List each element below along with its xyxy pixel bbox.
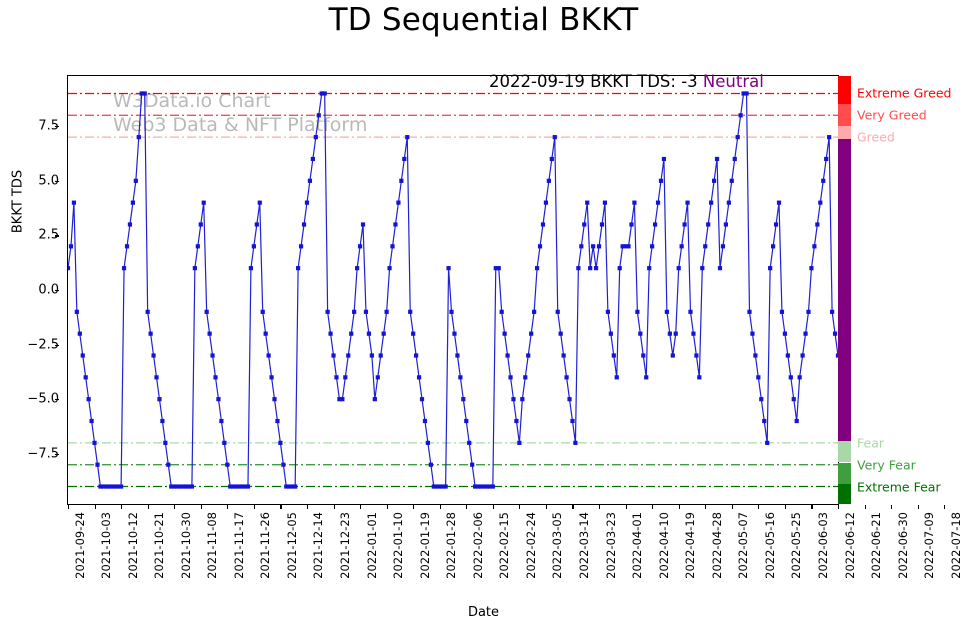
x-tick-label: 2022-01-01 — [365, 512, 379, 579]
tds-point — [210, 353, 214, 357]
x-tick-mark — [758, 505, 759, 509]
tds-point — [446, 266, 450, 270]
tds-point — [122, 266, 126, 270]
tds-point — [709, 201, 713, 205]
x-tick-label: 2021-12-14 — [311, 512, 325, 579]
y-axis-ticks: −7.5−5.0−2.50.02.55.07.5 — [0, 75, 59, 505]
tds-point — [154, 375, 158, 379]
tds-point — [656, 201, 660, 205]
tds-point — [703, 244, 707, 248]
tds-point — [653, 222, 657, 226]
tds-point — [795, 419, 799, 423]
zone-label-fear: Fear — [857, 435, 884, 450]
x-tick-mark — [95, 505, 96, 509]
annotation-classification: Neutral — [703, 72, 764, 91]
x-tick-mark — [732, 505, 733, 509]
tds-point — [72, 201, 76, 205]
tds-point — [328, 332, 332, 336]
tds-point — [81, 353, 85, 357]
y-tick-mark — [55, 290, 59, 291]
x-axis-label: Date — [0, 605, 967, 620]
tds-point — [343, 375, 347, 379]
tds-point — [258, 201, 262, 205]
page-title: TD Sequential BKKT — [0, 2, 967, 38]
annotation-text: 2022-09-19 BKKT TDS: -3 — [489, 72, 698, 91]
tds-point — [550, 157, 554, 161]
tds-point — [190, 484, 194, 488]
tds-point — [358, 244, 362, 248]
tds-point — [727, 201, 731, 205]
x-tick-mark — [413, 505, 414, 509]
y-tick-mark — [55, 399, 59, 400]
x-tick-mark — [652, 505, 653, 509]
tds-point — [715, 157, 719, 161]
tds-point — [272, 397, 276, 401]
tds-point — [160, 419, 164, 423]
tds-point — [75, 310, 79, 314]
tds-point — [208, 332, 212, 336]
x-tick-mark — [918, 505, 919, 509]
colorbar-segment-extreme-fear — [838, 484, 851, 504]
y-axis-label: BKKT TDS — [11, 132, 26, 272]
tds-point — [786, 353, 790, 357]
x-tick-label: 2021-11-26 — [258, 512, 272, 579]
x-tick-mark — [838, 505, 839, 509]
tds-point — [547, 179, 551, 183]
tds-point — [151, 353, 155, 357]
tds-point — [641, 353, 645, 357]
tds-point — [370, 353, 374, 357]
tds-point — [556, 310, 560, 314]
x-tick-mark — [572, 505, 573, 509]
tds-point — [809, 266, 813, 270]
tds-point — [567, 397, 571, 401]
tds-point — [789, 375, 793, 379]
tds-point — [399, 179, 403, 183]
x-tick-label: 2022-02-15 — [497, 512, 511, 579]
tds-line — [68, 93, 838, 486]
x-tick-label: 2022-04-01 — [630, 512, 644, 579]
tds-point — [532, 310, 536, 314]
tds-point — [84, 375, 88, 379]
tds-point — [311, 157, 315, 161]
tds-point — [541, 222, 545, 226]
x-tick-mark — [811, 505, 812, 509]
zone-label-extreme-greed: Extreme Greed — [857, 86, 951, 101]
tds-point — [712, 179, 716, 183]
tds-point — [349, 332, 353, 336]
tds-point — [385, 310, 389, 314]
tds-point — [497, 266, 501, 270]
x-tick-mark — [360, 505, 361, 509]
x-tick-mark — [440, 505, 441, 509]
tds-point — [426, 441, 430, 445]
tds-point — [677, 266, 681, 270]
tds-point — [635, 310, 639, 314]
tds-point — [744, 91, 748, 95]
tds-point — [405, 135, 409, 139]
plot-area: W3Data.io Chart Web3 Data & NFT Platform — [67, 75, 839, 505]
tds-point — [553, 135, 557, 139]
tds-point — [470, 463, 474, 467]
tds-point — [331, 353, 335, 357]
tds-point — [417, 375, 421, 379]
tds-point — [821, 179, 825, 183]
x-tick-mark — [148, 505, 149, 509]
tds-point — [491, 484, 495, 488]
tds-point — [334, 375, 338, 379]
tds-point — [739, 113, 743, 117]
tds-point — [346, 353, 350, 357]
tds-point — [367, 332, 371, 336]
tds-point — [691, 332, 695, 336]
tds-point — [783, 332, 787, 336]
x-tick-label: 2022-04-10 — [657, 512, 671, 579]
tds-point — [818, 201, 822, 205]
x-tick-mark — [466, 505, 467, 509]
tds-point — [261, 310, 265, 314]
tds-point — [559, 332, 563, 336]
tds-point — [603, 201, 607, 205]
tds-point — [352, 310, 356, 314]
tds-point — [458, 375, 462, 379]
tds-point — [444, 484, 448, 488]
tds-point — [199, 222, 203, 226]
tds-point — [526, 353, 530, 357]
zone-label-greed: Greed — [857, 130, 895, 145]
x-tick-label: 2022-06-12 — [843, 512, 857, 579]
x-tick-mark — [519, 505, 520, 509]
tds-point — [317, 113, 321, 117]
tds-point — [615, 375, 619, 379]
x-tick-label: 2022-05-07 — [736, 512, 750, 579]
tds-point — [149, 332, 153, 336]
tds-point — [721, 244, 725, 248]
tds-point — [538, 244, 542, 248]
tds-point — [402, 157, 406, 161]
tds-point — [449, 310, 453, 314]
tds-point — [591, 244, 595, 248]
tds-point — [503, 332, 507, 336]
zone-label-extreme-fear: Extreme Fear — [857, 479, 941, 494]
tds-point — [255, 222, 259, 226]
x-tick-label: 2021-10-03 — [99, 512, 113, 579]
tds-point — [340, 397, 344, 401]
y-tick-mark — [55, 126, 59, 127]
x-tick-mark — [121, 505, 122, 509]
plot-clip — [68, 76, 838, 504]
x-tick-mark — [334, 505, 335, 509]
tds-point — [92, 441, 96, 445]
tds-point — [225, 463, 229, 467]
tds-point — [694, 353, 698, 357]
x-tick-label: 2022-05-25 — [789, 512, 803, 579]
tds-point — [792, 397, 796, 401]
tds-point — [163, 441, 167, 445]
colorbar-segment-extreme-greed — [838, 76, 851, 104]
chart-root: TD Sequential BKKT W3Data.io Chart Web3 … — [0, 0, 967, 633]
tds-point — [573, 441, 577, 445]
x-tick-mark — [68, 505, 69, 509]
tds-point — [812, 244, 816, 248]
tds-point — [137, 135, 141, 139]
tds-point — [579, 244, 583, 248]
tds-point — [87, 397, 91, 401]
tds-series — [68, 76, 838, 504]
tds-point — [379, 353, 383, 357]
tds-point — [671, 353, 675, 357]
colorbar-segment-greed — [838, 126, 851, 139]
tds-point — [806, 310, 810, 314]
tds-point — [119, 484, 123, 488]
x-tick-mark — [307, 505, 308, 509]
tds-point — [423, 419, 427, 423]
tds-point — [632, 201, 636, 205]
tds-point — [302, 222, 306, 226]
tds-point — [125, 244, 129, 248]
tds-point — [293, 484, 297, 488]
x-tick-mark — [705, 505, 706, 509]
tds-point — [281, 463, 285, 467]
tds-point — [612, 353, 616, 357]
x-tick-label: 2022-02-06 — [471, 512, 485, 579]
tds-point — [768, 266, 772, 270]
tds-point — [753, 353, 757, 357]
tds-point — [278, 441, 282, 445]
tds-point — [801, 353, 805, 357]
tds-point — [523, 375, 527, 379]
tds-point — [585, 201, 589, 205]
tds-point — [305, 201, 309, 205]
tds-point — [638, 332, 642, 336]
tds-point — [387, 266, 391, 270]
tds-point — [131, 201, 135, 205]
tds-point — [570, 419, 574, 423]
tds-point — [314, 135, 318, 139]
latest-value-annotation: 2022-09-19 BKKT TDS: -3 Neutral — [489, 72, 764, 91]
tds-point — [219, 419, 223, 423]
tds-point — [157, 397, 161, 401]
tds-point — [455, 353, 459, 357]
tds-point — [582, 222, 586, 226]
x-tick-mark — [493, 505, 494, 509]
tds-point — [771, 244, 775, 248]
tds-point — [78, 332, 82, 336]
colorbar-segment-neutral — [838, 139, 851, 440]
tds-point — [662, 157, 666, 161]
tds-point — [659, 179, 663, 183]
tds-point — [803, 332, 807, 336]
tds-point — [376, 375, 380, 379]
x-tick-label: 2022-07-18 — [949, 512, 963, 579]
y-tick-mark — [55, 181, 59, 182]
tds-point — [68, 266, 70, 270]
x-axis-ticks: 2021-09-242021-10-032021-10-122021-10-21… — [67, 512, 839, 602]
tds-point — [827, 135, 831, 139]
x-tick-label: 2021-09-24 — [73, 512, 87, 579]
tds-point — [275, 419, 279, 423]
tds-point — [780, 310, 784, 314]
tds-point — [724, 222, 728, 226]
tds-point — [674, 332, 678, 336]
x-tick-mark — [944, 505, 945, 509]
x-tick-mark — [280, 505, 281, 509]
tds-point — [665, 310, 669, 314]
tds-point — [202, 201, 206, 205]
tds-point — [609, 332, 613, 336]
tds-point — [833, 332, 837, 336]
x-tick-mark — [599, 505, 600, 509]
y-tick-mark — [55, 454, 59, 455]
x-tick-mark — [387, 505, 388, 509]
tds-point — [606, 310, 610, 314]
tds-point — [408, 310, 412, 314]
tds-point — [246, 484, 250, 488]
x-tick-mark — [201, 505, 202, 509]
tds-point — [95, 463, 99, 467]
tds-point — [464, 419, 468, 423]
colorbar-segment-fear — [838, 441, 851, 463]
tds-point — [326, 310, 330, 314]
tds-point — [69, 244, 73, 248]
tds-point — [461, 397, 465, 401]
tds-point — [562, 353, 566, 357]
tds-point — [824, 157, 828, 161]
x-tick-mark — [546, 505, 547, 509]
x-tick-mark — [865, 505, 866, 509]
tds-point — [414, 353, 418, 357]
x-tick-label: 2022-04-19 — [683, 512, 697, 579]
tds-point — [765, 441, 769, 445]
tds-point — [393, 222, 397, 226]
tds-point — [815, 222, 819, 226]
x-tick-label: 2022-02-24 — [524, 512, 538, 579]
x-tick-label: 2021-11-08 — [205, 512, 219, 579]
tds-point — [750, 332, 754, 336]
tds-point — [594, 266, 598, 270]
tds-point — [756, 375, 760, 379]
tds-point — [134, 179, 138, 183]
tds-point — [564, 375, 568, 379]
tds-point — [249, 266, 253, 270]
tds-point — [213, 375, 217, 379]
tds-point — [511, 397, 515, 401]
tds-point — [193, 266, 197, 270]
tds-point — [323, 91, 327, 95]
tds-point — [166, 463, 170, 467]
tds-point — [706, 222, 710, 226]
x-tick-label: 2022-03-14 — [577, 512, 591, 579]
zone-label-very-fear: Very Fear — [857, 457, 916, 472]
tds-point — [697, 375, 701, 379]
tds-point — [308, 179, 312, 183]
tds-point — [597, 244, 601, 248]
tds-point — [647, 266, 651, 270]
tds-point — [452, 332, 456, 336]
tds-point — [429, 463, 433, 467]
x-tick-mark — [679, 505, 680, 509]
x-tick-mark — [227, 505, 228, 509]
tds-point — [373, 397, 377, 401]
x-tick-mark — [785, 505, 786, 509]
tds-point — [682, 222, 686, 226]
tds-point — [736, 135, 740, 139]
tds-point — [143, 91, 147, 95]
x-tick-label: 2022-06-03 — [816, 512, 830, 579]
zone-label-very-greed: Very Greed — [857, 108, 927, 123]
tds-point — [680, 244, 684, 248]
x-tick-mark — [254, 505, 255, 509]
x-tick-label: 2022-06-30 — [896, 512, 910, 579]
tds-point — [222, 441, 226, 445]
tds-point — [396, 201, 400, 205]
tds-point — [718, 266, 722, 270]
tds-point — [364, 310, 368, 314]
tds-point — [252, 244, 256, 248]
x-tick-label: 2021-10-21 — [152, 512, 166, 579]
tds-point — [576, 266, 580, 270]
colorbar-segment-very-greed — [838, 104, 851, 126]
tds-point — [146, 310, 150, 314]
tds-point — [626, 244, 630, 248]
x-tick-label: 2021-10-30 — [179, 512, 193, 579]
x-tick-label: 2021-10-12 — [126, 512, 140, 579]
tds-point — [600, 222, 604, 226]
x-tick-label: 2021-12-05 — [285, 512, 299, 579]
tds-point — [747, 310, 751, 314]
tds-point — [390, 244, 394, 248]
tds-point — [759, 397, 763, 401]
tds-point — [777, 201, 781, 205]
tds-point — [629, 222, 633, 226]
tds-point — [529, 332, 533, 336]
tds-point — [588, 266, 592, 270]
x-tick-label: 2021-12-23 — [338, 512, 352, 579]
tds-point — [205, 310, 209, 314]
tds-point — [264, 332, 268, 336]
tds-point — [505, 353, 509, 357]
x-tick-label: 2022-06-21 — [869, 512, 883, 579]
tds-point — [269, 375, 273, 379]
tds-point — [733, 157, 737, 161]
tds-point — [382, 332, 386, 336]
tds-point — [500, 310, 504, 314]
tds-point — [730, 179, 734, 183]
tds-point — [128, 222, 132, 226]
tds-point — [618, 266, 622, 270]
x-tick-label: 2021-11-17 — [232, 512, 246, 579]
x-tick-label: 2022-01-28 — [444, 512, 458, 579]
x-tick-label: 2022-04-28 — [710, 512, 724, 579]
tds-point — [196, 244, 200, 248]
tds-point — [762, 419, 766, 423]
tds-point — [216, 397, 220, 401]
tds-point — [267, 353, 271, 357]
tds-point — [520, 397, 524, 401]
tds-point — [361, 222, 365, 226]
x-tick-label: 2022-01-19 — [418, 512, 432, 579]
tds-point — [544, 201, 548, 205]
x-tick-mark — [174, 505, 175, 509]
tds-point — [668, 332, 672, 336]
y-tick-mark — [55, 235, 59, 236]
tds-point — [299, 244, 303, 248]
colorbar-segment-very-fear — [838, 463, 851, 485]
x-tick-mark — [891, 505, 892, 509]
tds-point — [467, 441, 471, 445]
tds-point — [411, 332, 415, 336]
tds-point — [296, 266, 300, 270]
